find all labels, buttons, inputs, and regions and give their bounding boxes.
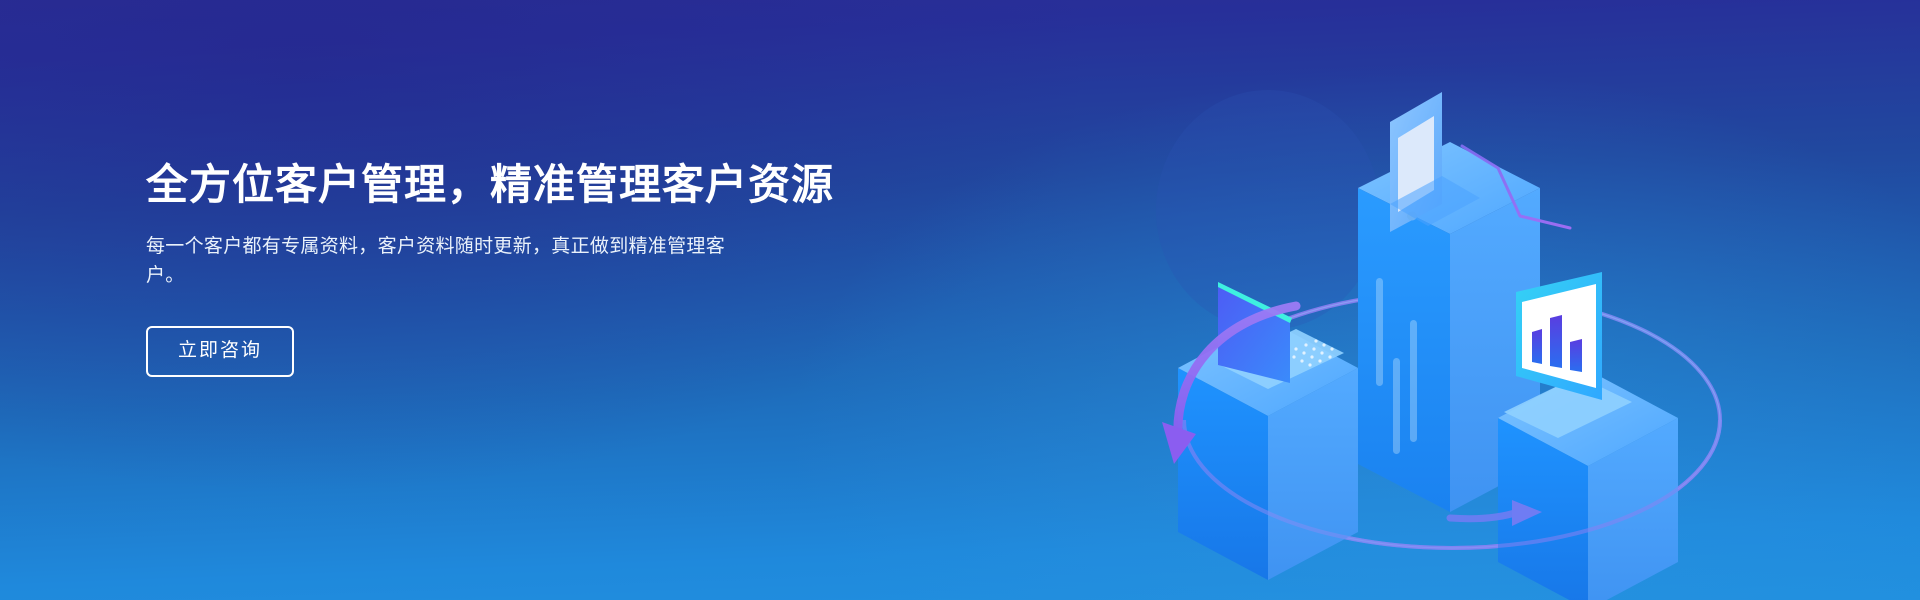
hero-illustration bbox=[1100, 20, 1800, 600]
page-title: 全方位客户管理，精准管理客户资源 bbox=[146, 160, 786, 210]
consult-now-button[interactable]: 立即咨询 bbox=[146, 326, 294, 377]
background-blob bbox=[1156, 90, 1380, 330]
hero-subtitle: 每一个客户都有专属资料，客户资料随时更新，真正做到精准管理客户。 bbox=[146, 232, 738, 291]
hero-copy-block: 全方位客户管理，精准管理客户资源 每一个客户都有专属资料，客户资料随时更新，真正… bbox=[146, 160, 786, 377]
illustration-svg bbox=[1100, 20, 1800, 600]
hero-banner: 全方位客户管理，精准管理客户资源 每一个客户都有专属资料，客户资料随时更新，真正… bbox=[0, 0, 1920, 600]
